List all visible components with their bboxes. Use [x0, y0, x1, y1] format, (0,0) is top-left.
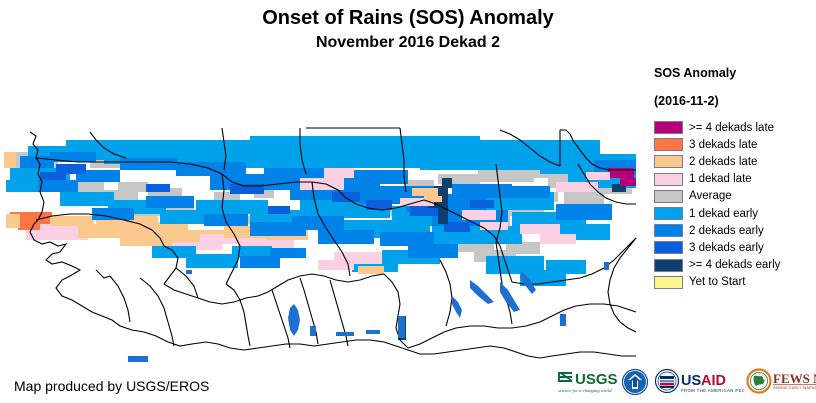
- legend-item-3-dekads-early[interactable]: 3 dekads early: [648, 239, 816, 256]
- svg-text:USGS: USGS: [575, 371, 618, 388]
- legend-swatch: [654, 121, 683, 134]
- page-title: Onset of Rains (SOS) Anomaly: [0, 6, 816, 30]
- legend-title: SOS Anomaly: [654, 66, 816, 80]
- map-credit: Map produced by USGS/EROS: [14, 378, 209, 394]
- legend-swatch: [654, 138, 683, 151]
- legend-swatch: [654, 276, 683, 289]
- legend-item-average[interactable]: Average: [648, 188, 816, 205]
- legend-label: Yet to Start: [689, 276, 745, 288]
- map-canvas[interactable]: [0, 64, 640, 364]
- legend-rows: >= 4 dekads late 3 dekads late 2 dekads …: [648, 119, 816, 291]
- title-block: Onset of Rains (SOS) Anomaly November 20…: [0, 6, 816, 53]
- legend-item-2-dekads-early[interactable]: 2 dekads early: [648, 222, 816, 239]
- legend-item-4-dekads-late[interactable]: >= 4 dekads late: [648, 119, 816, 136]
- legend-label: 1 dekad late: [689, 173, 752, 185]
- svg-text:FROM THE AMERICAN PEOPLE: FROM THE AMERICAN PEOPLE: [681, 388, 744, 393]
- legend-label: 2 dekads late: [689, 156, 757, 168]
- svg-text:science for a changing world: science for a changing world: [558, 388, 612, 393]
- usgs-logo: USGS science for a changing world: [556, 367, 618, 397]
- legend-label: Average: [689, 190, 732, 202]
- legend-swatch: [654, 259, 683, 272]
- legend-swatch: [654, 224, 683, 237]
- svg-text:FEWS NET: FEWS NET: [773, 371, 816, 386]
- legend-item-yet-to-start[interactable]: Yet to Start: [648, 274, 816, 291]
- legend-label: 2 dekads early: [689, 225, 764, 237]
- page-subtitle: November 2016 Dekad 2: [0, 33, 816, 53]
- noaa-logo: [620, 367, 650, 397]
- legend-item-3-dekads-late[interactable]: 3 dekads late: [648, 136, 816, 153]
- map-legend: SOS Anomaly (2016-11-2) >= 4 dekads late…: [648, 66, 816, 291]
- svg-text:US: US: [681, 373, 701, 389]
- legend-label: >= 4 dekads late: [689, 122, 774, 134]
- legend-item-2-dekads-late[interactable]: 2 dekads late: [648, 153, 816, 170]
- legend-swatch: [654, 241, 683, 254]
- map-page: Onset of Rains (SOS) Anomaly November 20…: [0, 0, 816, 403]
- svg-text:AID: AID: [701, 373, 726, 389]
- legend-date: (2016-11-2): [654, 94, 816, 108]
- logo-strip: USGS science for a changing world US AID…: [556, 363, 814, 401]
- usaid-logo: US AID FROM THE AMERICAN PEOPLE: [654, 367, 744, 397]
- svg-text:FAMINE EARLY WARNING SYSTEMS N: FAMINE EARLY WARNING SYSTEMS NETWORK: [773, 386, 816, 390]
- legend-item-1-dekad-early[interactable]: 1 dekad early: [648, 205, 816, 222]
- west-africa-map[interactable]: [0, 64, 640, 364]
- legend-item-1-dekad-late[interactable]: 1 dekad late: [648, 171, 816, 188]
- legend-swatch: [654, 173, 683, 186]
- legend-label: 1 dekad early: [689, 208, 758, 220]
- fewsnet-logo: FEWS NET FAMINE EARLY WARNING SYSTEMS NE…: [746, 367, 816, 397]
- legend-swatch: [654, 207, 683, 220]
- legend-swatch: [654, 155, 683, 168]
- legend-label: >= 4 dekads early: [689, 259, 780, 271]
- legend-item-4-dekads-early[interactable]: >= 4 dekads early: [648, 257, 816, 274]
- legend-label: 3 dekads early: [689, 242, 764, 254]
- legend-swatch: [654, 190, 683, 203]
- legend-label: 3 dekads late: [689, 139, 757, 151]
